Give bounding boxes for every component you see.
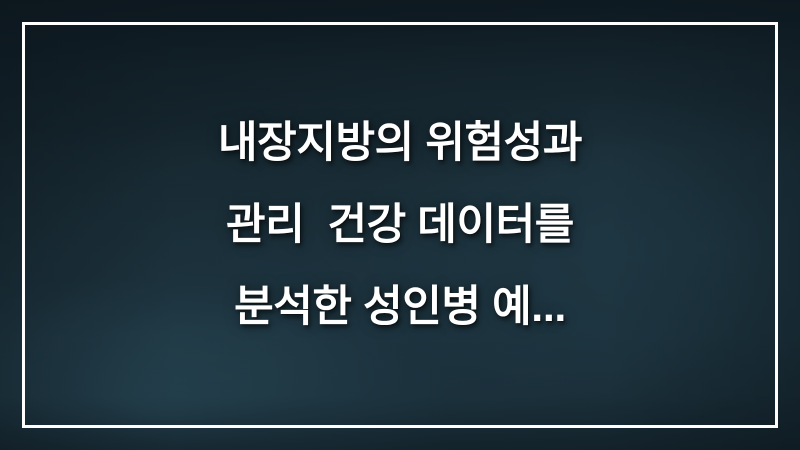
title-block: 내장지방의 위험성과 관리 건강 데이터를 분석한 성인병 예... [0, 0, 800, 450]
thumbnail-card[interactable]: 내장지방의 위험성과 관리 건강 데이터를 분석한 성인병 예... [0, 0, 800, 450]
title-line-1: 내장지방의 위험성과 [60, 102, 740, 184]
title-line-2: 관리 건강 데이터를 [60, 184, 740, 266]
title-line-3: 분석한 성인병 예... [60, 266, 740, 348]
